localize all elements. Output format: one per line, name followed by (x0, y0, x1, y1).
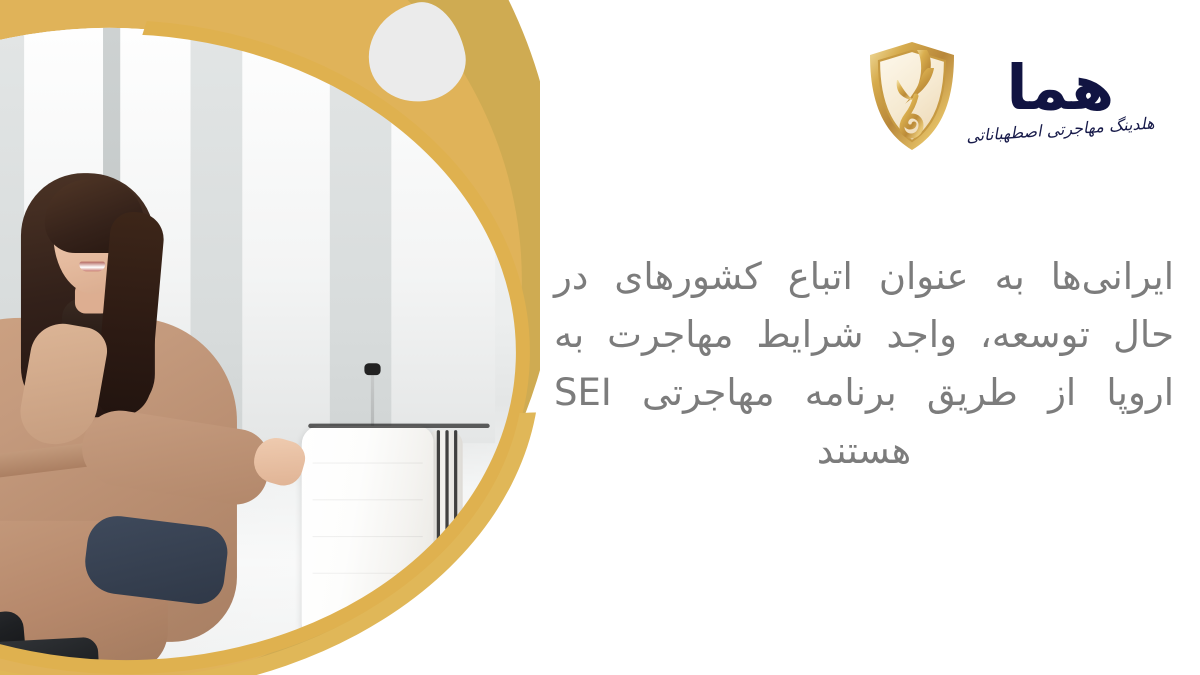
logo-wordmark: هما (966, 59, 1155, 117)
brand-logo[interactable]: هما هلدینگ مهاجرتی اصطهباناتی (864, 22, 1164, 170)
suitcase-wheel (395, 635, 421, 661)
promo-banner: هما هلدینگ مهاجرتی اصطهباناتی (0, 0, 1200, 675)
logo-text-block: هما هلدینگ مهاجرتی اصطهباناتی (966, 53, 1155, 138)
shield-phoenix-emblem-icon (864, 38, 960, 154)
headline-text: ایرانی‌ها به عنوان اتباع کشورهای در حال … (554, 248, 1174, 480)
